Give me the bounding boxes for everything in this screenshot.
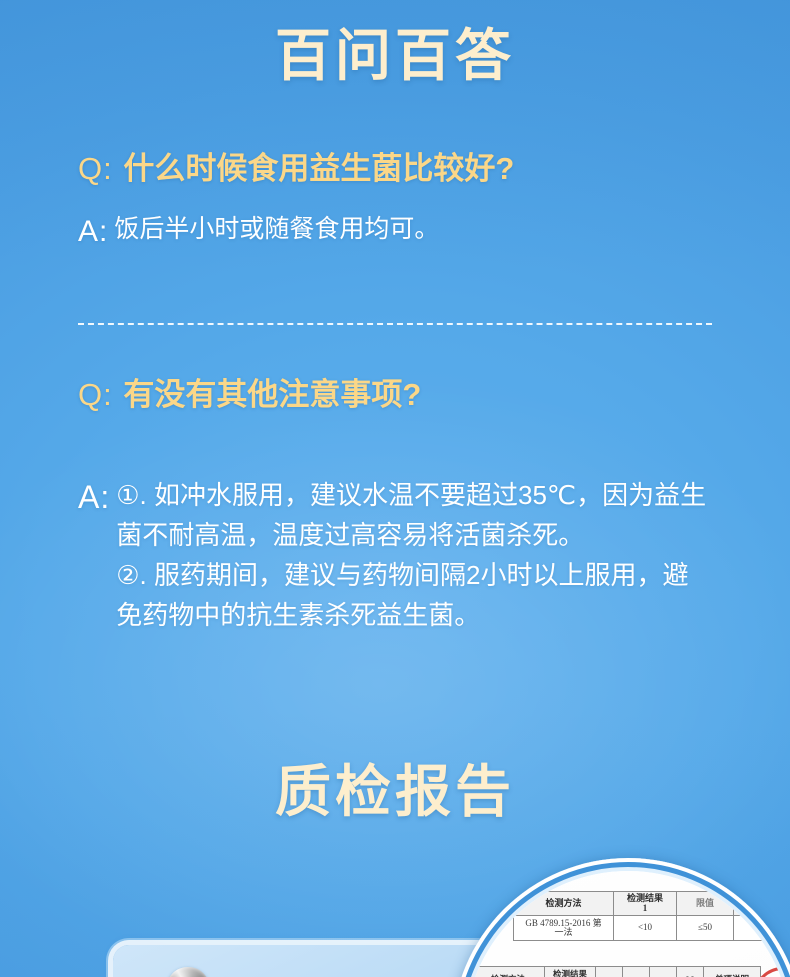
col-header-result-index: 1 — [643, 903, 648, 913]
faq-answer-2-line-1: ①. 如冲水服用，建议水温不要超过35℃，因为益生 — [116, 475, 718, 515]
faq-question-2-row: Q: 有没有其他注意事项? — [78, 376, 718, 415]
table-header-row: 检测方法 检测结果 1 限值 单项说明 — [514, 892, 790, 916]
faq-question-1-row: Q: 什么时候食用益生菌比较好? — [78, 150, 718, 189]
col-header-limit: 限值 — [677, 892, 734, 916]
question-marker-icon: Q: — [78, 151, 115, 186]
faq-section-title: 百问百答 — [0, 28, 790, 84]
col-header-n: n — [596, 967, 623, 977]
report-table-bottom: 检测方法 检测结果 1 n c m M 单项说明 GB 4789.3 — [471, 966, 761, 977]
faq-item-1: Q: 什么时候食用益生菌比较好? A: 饭后半小时或随餐食用均可。 — [78, 150, 718, 253]
table-header-row: 检测方法 检测结果 1 n c m M 单项说明 — [472, 967, 761, 977]
cell-result: <10 — [614, 916, 677, 941]
faq-answer-2-row: A: ①. 如冲水服用，建议水温不要超过35℃，因为益生 菌不耐高温，温度过高容… — [78, 475, 718, 635]
col-header-result: 检测结果 1 — [545, 967, 596, 977]
report-section-title: 质检报告 — [0, 764, 790, 820]
faq-answer-2-text: ①. 如冲水服用，建议水温不要超过35℃，因为益生 菌不耐高温，温度过高容易将活… — [116, 475, 718, 635]
answer-marker-icon: A: — [78, 475, 116, 520]
col-header-result-label: 检测结果 — [553, 969, 587, 977]
question-marker-icon: Q: — [78, 377, 115, 412]
report-table-top: 检测方法 检测结果 1 限值 单项说明 GB 4789.15-2016 第 一法 — [513, 891, 790, 941]
cell-note: 符合 — [734, 916, 790, 941]
answer-marker-icon: A: — [78, 211, 114, 254]
col-header-c: c — [623, 967, 650, 977]
faq-item-2: Q: 有没有其他注意事项? A: ①. 如冲水服用，建议水温不要超过35℃，因为… — [78, 376, 718, 635]
magnifier-lens: 检测方法 检测结果 1 限值 单项说明 GB 4789.15-2016 第 一法 — [452, 858, 790, 977]
cell-method-line-2: 一法 — [554, 927, 572, 937]
faq-question-1-text: 什么时候食用益生菌比较好? — [123, 151, 514, 186]
page-root: 百问百答 Q: 什么时候食用益生菌比较好? A: 饭后半小时或随餐食用均可。 Q… — [0, 0, 790, 977]
faq-answer-2-line-2: 菌不耐高温，温度过高容易将活菌杀死。 — [116, 515, 718, 555]
col-header-note: 单项说明 — [704, 967, 761, 977]
faq-answer-2-line-4: 免药物中的抗生素杀死益生菌。 — [116, 595, 718, 635]
col-header-method: 检测方法 — [514, 892, 614, 916]
section-divider — [78, 323, 712, 325]
col-header-M-upper: M — [677, 967, 704, 977]
cell-limit: ≤50 — [677, 916, 734, 941]
table-row: GB 4789.15-2016 第 一法 <10 ≤50 符合 — [514, 916, 790, 941]
col-header-note: 单项说明 — [734, 892, 790, 916]
metal-knob-icon — [166, 967, 210, 977]
faq-answer-1-row: A: 饭后半小时或随餐食用均可。 — [78, 211, 718, 254]
faq-question-2-text: 有没有其他注意事项? — [123, 377, 421, 412]
faq-answer-2-line-3: ②. 服药期间，建议与药物间隔2小时以上服用，避 — [116, 555, 718, 595]
cell-method: GB 4789.15-2016 第 一法 — [514, 916, 614, 941]
faq-answer-1-text: 饭后半小时或随餐食用均可。 — [114, 211, 718, 248]
col-header-result: 检测结果 1 — [614, 892, 677, 916]
lens-content: 检测方法 检测结果 1 限值 单项说明 GB 4789.15-2016 第 一法 — [465, 871, 790, 977]
col-header-method: 检测方法 — [472, 967, 545, 977]
col-header-m: m — [650, 967, 677, 977]
